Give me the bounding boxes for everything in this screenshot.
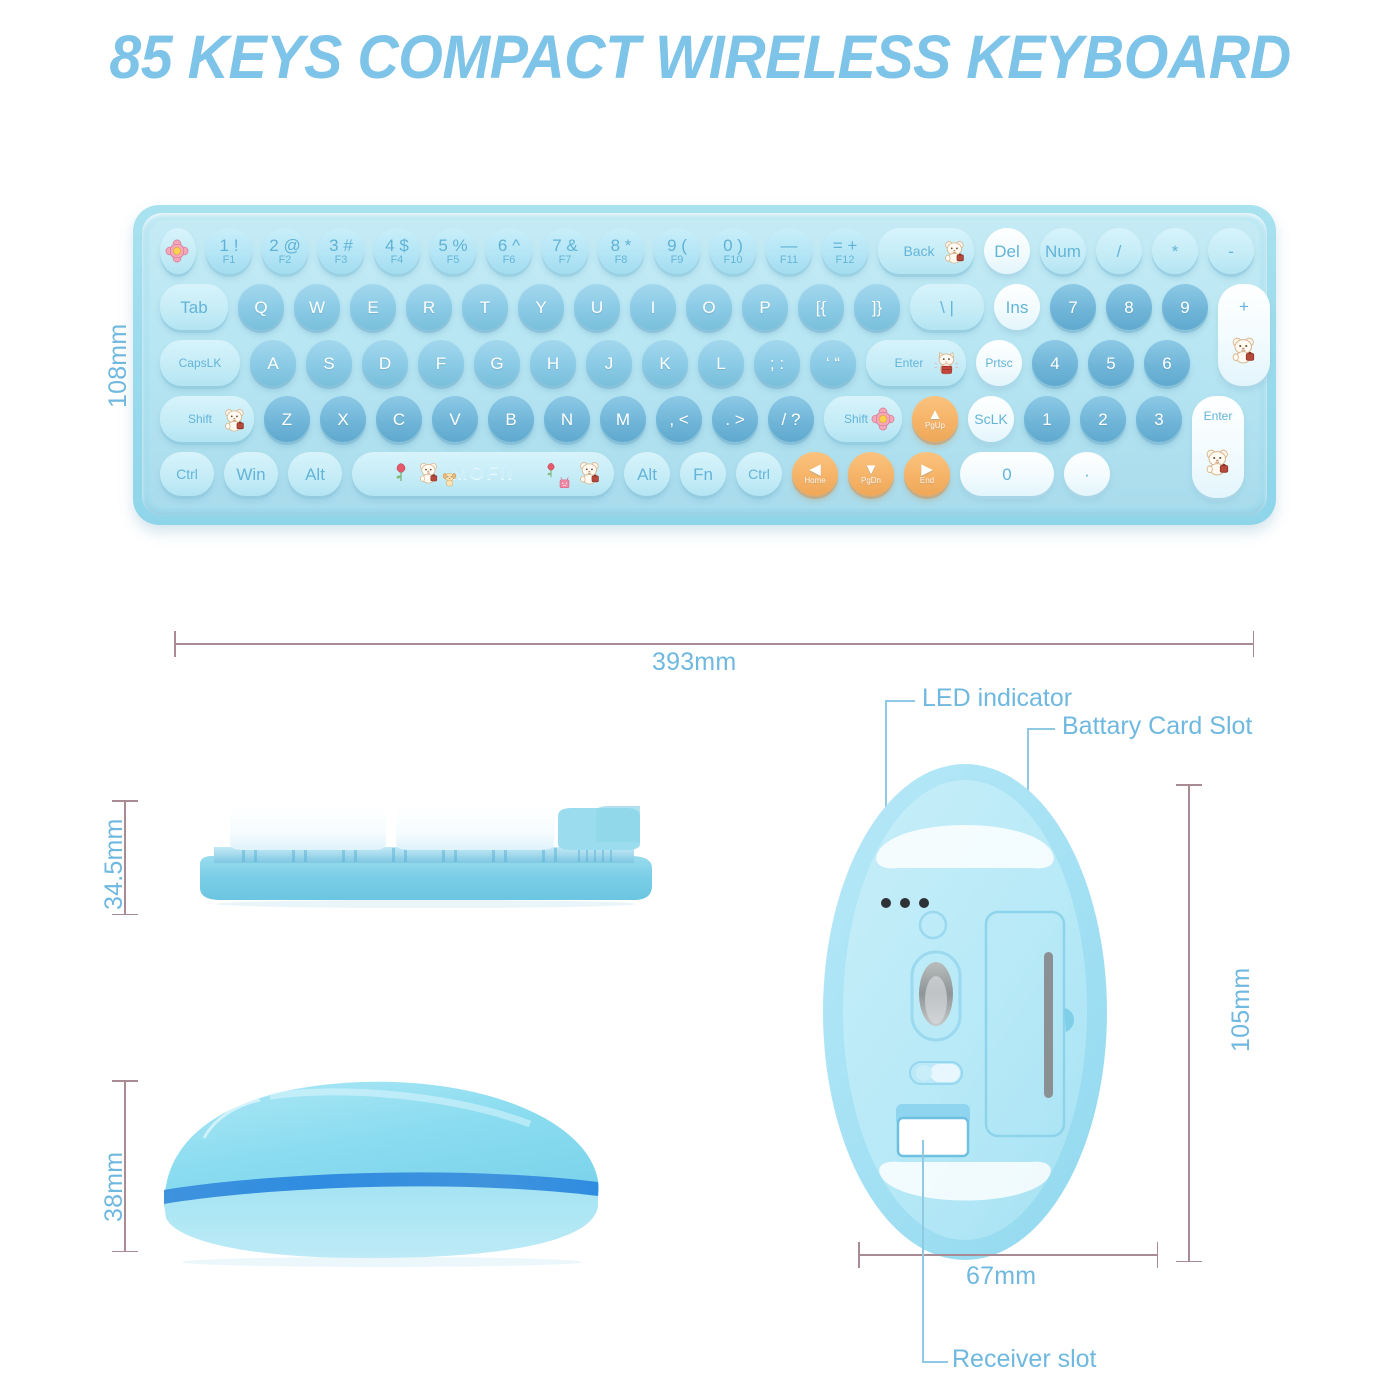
key-capslock[interactable]: CapsLK (160, 340, 240, 386)
key-label: 3 # (329, 237, 353, 254)
key-c[interactable]: C (376, 396, 422, 442)
key-label: Num (1045, 243, 1081, 260)
key-label: . > (725, 411, 744, 428)
key-bracket-right[interactable]: ]} (854, 284, 900, 330)
key-sublabel: PgDn (861, 477, 881, 486)
key-label: / (1117, 243, 1122, 260)
mouse-side-view (150, 1070, 610, 1270)
key-sublabel: F8 (615, 255, 628, 266)
key-w[interactable]: W (294, 284, 340, 330)
key-printscreen[interactable]: Prtsc (976, 340, 1022, 386)
key-a[interactable]: A (250, 340, 296, 386)
key-5[interactable]: 5 %F5 (430, 228, 476, 274)
key-label: 3 (1154, 411, 1163, 428)
key-label: Ctrl (176, 467, 198, 481)
key-numpad-3[interactable]: 3 (1136, 396, 1182, 442)
key-1[interactable]: 1 !F1 (206, 228, 252, 274)
key-6[interactable]: 6 ^F6 (486, 228, 532, 274)
mouse-bottom-view (820, 760, 1110, 1260)
key-quote[interactable]: ‘ “ (810, 340, 856, 386)
key-x[interactable]: X (320, 396, 366, 442)
key-sublabel: F7 (559, 255, 572, 266)
key-label: Back (903, 244, 934, 258)
key-t[interactable]: T (462, 284, 508, 330)
key-label: ]} (872, 299, 882, 316)
key-label: Del (994, 243, 1020, 260)
key-n[interactable]: N (544, 396, 590, 442)
bear-sticker (942, 238, 968, 269)
key-label: ; : (770, 355, 784, 372)
key-label: 1 ! (220, 237, 239, 254)
key-glyph: ◀ (809, 462, 821, 477)
key-subtract[interactable]: - (1208, 228, 1254, 274)
key-enter[interactable]: Enter (866, 340, 966, 386)
key-7[interactable]: 7 &F7 (542, 228, 588, 274)
key-space[interactable]: MOFII (352, 452, 614, 496)
bear-sticker (417, 460, 441, 489)
key-arrow-right[interactable]: ▶End (904, 452, 950, 496)
key-label: 5 % (438, 237, 467, 254)
key-sublabel: F9 (671, 255, 684, 266)
receiver-slot-callout-label: Receiver slot (952, 1345, 1097, 1374)
key-ctrl-left[interactable]: Ctrl (160, 452, 214, 496)
key-u[interactable]: U (574, 284, 620, 330)
key-numpad-7[interactable]: 7 (1050, 284, 1096, 330)
key-shift-right[interactable]: Shift (824, 396, 902, 442)
led-indicator-leader-horizontal (885, 700, 915, 702)
key-z[interactable]: Z (264, 396, 310, 442)
key-alt-right[interactable]: Alt (624, 452, 670, 496)
key-period[interactable]: . > (712, 396, 758, 442)
key-label: 6 (1162, 355, 1171, 372)
key-label: U (591, 299, 603, 316)
key-sublabel: F2 (279, 255, 292, 266)
key-numpad-1[interactable]: 1 (1024, 396, 1070, 442)
led-dot-2 (900, 898, 910, 908)
receiver-slot-leader-vertical (922, 1140, 924, 1362)
bear-sticker (1229, 334, 1259, 369)
bear-sticker (1203, 446, 1233, 481)
key-semicolon[interactable]: ; : (754, 340, 800, 386)
key-label: E (367, 299, 378, 316)
key-label: - (1228, 243, 1234, 260)
key-9[interactable]: 9 (F9 (654, 228, 700, 274)
mouse-length-dimension-line (1188, 784, 1190, 1262)
key-label: Prtsc (985, 357, 1012, 369)
key-v[interactable]: V (432, 396, 478, 442)
key-sublabel: F4 (391, 255, 404, 266)
key-divide[interactable]: / (1096, 228, 1142, 274)
key-delete[interactable]: Del (984, 228, 1030, 274)
key-p[interactable]: P (742, 284, 788, 330)
key-insert[interactable]: Ins (994, 284, 1040, 330)
key-3[interactable]: 3 #F3 (318, 228, 364, 274)
key-label: Fn (693, 466, 713, 483)
bear-sticker (577, 459, 603, 490)
receiver-slot-leader-horizontal (922, 1361, 948, 1363)
key-label: Tab (180, 299, 207, 316)
key-label: 8 (1124, 299, 1133, 316)
key-label: W (309, 299, 325, 316)
key-numpad-2[interactable]: 2 (1080, 396, 1126, 442)
tulip-sticker (391, 462, 411, 487)
key-label: I (651, 299, 656, 316)
key-label: C (393, 411, 405, 428)
keyboard-height-label: 108mm (104, 324, 133, 408)
key-label: Alt (637, 466, 657, 483)
bear-sticker (222, 406, 248, 437)
key-numpad-9[interactable]: 9 (1162, 284, 1208, 330)
key-e[interactable]: E (350, 284, 396, 330)
key-label: M (616, 411, 630, 428)
key-equals[interactable]: = +F12 (822, 228, 868, 274)
flower-sticker (870, 406, 896, 437)
battery-slot-callout-label: Battary Card Slot (1062, 712, 1252, 741)
key-label: J (605, 355, 614, 372)
key-win[interactable]: Win (224, 452, 278, 496)
key-backslash[interactable]: \ | (910, 284, 984, 330)
key-label: [{ (816, 299, 826, 316)
key-2[interactable]: 2 @F2 (262, 228, 308, 274)
key-label: CapsLK (179, 357, 222, 369)
keyboard-side-view (196, 800, 656, 915)
key-tab[interactable]: Tab (160, 284, 228, 330)
key-label: A (267, 355, 278, 372)
mouse-height-label: 38mm (100, 1152, 129, 1222)
key-label: 6 ^ (498, 237, 520, 254)
key-backspace[interactable]: Back (878, 228, 974, 274)
key-sublabel: Home (804, 477, 825, 486)
flower-sticker (164, 238, 190, 269)
tulip-sticker (543, 462, 559, 483)
key-label: L (716, 355, 725, 372)
key-m[interactable]: M (600, 396, 646, 442)
key-label: D (379, 355, 391, 372)
mouse-width-label: 67mm (966, 1262, 1036, 1291)
key-sublabel: F12 (836, 255, 855, 266)
key-h[interactable]: H (530, 340, 576, 386)
key-4[interactable]: 4 $F4 (374, 228, 420, 274)
key-label: — (781, 237, 798, 254)
key-numpad-6[interactable]: 6 (1144, 340, 1190, 386)
key-label: Shift (188, 413, 212, 425)
key-j[interactable]: J (586, 340, 632, 386)
key-glyph: ▲ (928, 407, 943, 422)
key-ctrl-right[interactable]: Ctrl (736, 452, 782, 496)
keyboard-thickness-label: 34.5mm (100, 818, 129, 910)
key-numpad-plus[interactable]: + (1218, 284, 1270, 386)
key-label: R (423, 299, 435, 316)
key-l[interactable]: L (698, 340, 744, 386)
key-glyph: ▼ (864, 462, 879, 477)
key-numpad-5[interactable]: 5 (1088, 340, 1134, 386)
key-label: T (480, 299, 490, 316)
key-multiply[interactable]: * (1152, 228, 1198, 274)
key-label: , < (669, 411, 688, 428)
key-0[interactable]: 0 )F10 (710, 228, 756, 274)
key-numpad-4[interactable]: 4 (1032, 340, 1078, 386)
pink-box-sticker (557, 475, 572, 495)
key-label: Win (236, 466, 265, 483)
key-label: Ctrl (748, 467, 770, 481)
key-label: N (561, 411, 573, 428)
led-indicator-callout-label: LED indicator (922, 684, 1072, 713)
led-dot-3 (919, 898, 929, 908)
key-label: ‘ “ (826, 355, 840, 372)
key-r[interactable]: R (406, 284, 452, 330)
key-label: 0 (1002, 466, 1011, 483)
key-label: / ? (782, 411, 801, 428)
key-q[interactable]: Q (238, 284, 284, 330)
key-label: P (759, 299, 770, 316)
keyboard-width-dimension-line (174, 643, 1254, 645)
key-label: Enter (895, 357, 924, 369)
key-label: 4 (1050, 355, 1059, 372)
key-numpad-0[interactable]: 0 (960, 452, 1054, 496)
keyboard-width-label: 393mm (652, 648, 736, 677)
brand-logo: MOFII (452, 463, 515, 485)
key-sublabel: F10 (724, 255, 743, 266)
key-g[interactable]: G (474, 340, 520, 386)
mouse-length-label: 105mm (1227, 968, 1256, 1052)
key-label: F (436, 355, 446, 372)
led-dot-1 (881, 898, 891, 908)
key-label: + (1239, 298, 1249, 315)
key-label: O (702, 299, 715, 316)
key-numpad-enter[interactable]: Enter (1192, 396, 1244, 498)
key-label: 9 ( (667, 237, 687, 254)
key-label: Ins (1006, 299, 1029, 316)
cat-sticker (934, 350, 960, 381)
key-8[interactable]: 8 *F8 (598, 228, 644, 274)
key-label: = + (833, 237, 858, 254)
mouse-width-dimension-line (858, 1254, 1158, 1256)
key-label: 7 (1068, 299, 1077, 316)
key-label: 0 ) (723, 237, 743, 254)
key-label: H (547, 355, 559, 372)
key-numlock[interactable]: Num (1040, 228, 1086, 274)
key-label: 1 (1042, 411, 1051, 428)
key-b[interactable]: B (488, 396, 534, 442)
key-label: 4 $ (385, 237, 409, 254)
key-y[interactable]: Y (518, 284, 564, 330)
key-label: Enter (1204, 410, 1233, 422)
key-label: Q (254, 299, 267, 316)
key-label: 2 @ (269, 237, 300, 254)
key-minus[interactable]: —F11 (766, 228, 812, 274)
key-label: Shift (844, 413, 868, 425)
key-label: Alt (305, 466, 325, 483)
key-label: * (1172, 243, 1179, 260)
key-sublabel: F11 (780, 255, 798, 266)
battery-slot-leader-horizontal (1027, 728, 1055, 730)
key-numpad-8[interactable]: 8 (1106, 284, 1152, 330)
key-sublabel: F5 (447, 255, 460, 266)
key-label: · (1084, 466, 1090, 483)
key-slash[interactable]: / ? (768, 396, 814, 442)
key-label: Z (282, 411, 292, 428)
key-label: S (323, 355, 334, 372)
key-numpad-dot[interactable]: · (1064, 452, 1110, 496)
key-shift-left[interactable]: Shift (160, 396, 254, 442)
key-label: Y (535, 299, 546, 316)
key-label: 2 (1098, 411, 1107, 428)
key-arrow-down[interactable]: ▼PgDn (848, 452, 894, 496)
key-label: B (505, 411, 516, 428)
key-label: 7 & (552, 237, 578, 254)
key-sublabel: F3 (335, 255, 348, 266)
key-fn[interactable]: Fn (680, 452, 726, 496)
key-k[interactable]: K (642, 340, 688, 386)
key-label: X (337, 411, 348, 428)
key-sublabel: F1 (223, 255, 236, 266)
key-sticker-key[interactable] (160, 228, 196, 274)
key-label: \ | (940, 299, 954, 316)
key-comma[interactable]: , < (656, 396, 702, 442)
key-s[interactable]: S (306, 340, 352, 386)
key-arrow-up[interactable]: ▲PgUp (912, 396, 958, 442)
page-title: 85 KEYS COMPACT WIRELESS KEYBOARD (42, 22, 1358, 92)
key-label: G (490, 355, 503, 372)
key-glyph: ▶ (921, 462, 933, 477)
key-label: K (659, 355, 670, 372)
key-sublabel: End (920, 477, 934, 486)
key-i[interactable]: I (630, 284, 676, 330)
key-label: ScLK (974, 412, 1007, 426)
key-bracket-left[interactable]: [{ (798, 284, 844, 330)
keyboard-top-view: 1 !F12 @F23 #F34 $F45 %F56 ^F67 &F78 *F8… (133, 205, 1276, 525)
key-alt-left[interactable]: Alt (288, 452, 342, 496)
key-sublabel: PgUp (925, 422, 945, 431)
key-arrow-left[interactable]: ◀Home (792, 452, 838, 496)
key-d[interactable]: D (362, 340, 408, 386)
key-f[interactable]: F (418, 340, 464, 386)
key-label: 8 * (611, 237, 632, 254)
key-label: 9 (1180, 299, 1189, 316)
key-sublabel: F6 (503, 255, 516, 266)
key-label: 5 (1106, 355, 1115, 372)
key-label: V (449, 411, 460, 428)
key-scrolllock[interactable]: ScLK (968, 396, 1014, 442)
key-o[interactable]: O (686, 284, 732, 330)
